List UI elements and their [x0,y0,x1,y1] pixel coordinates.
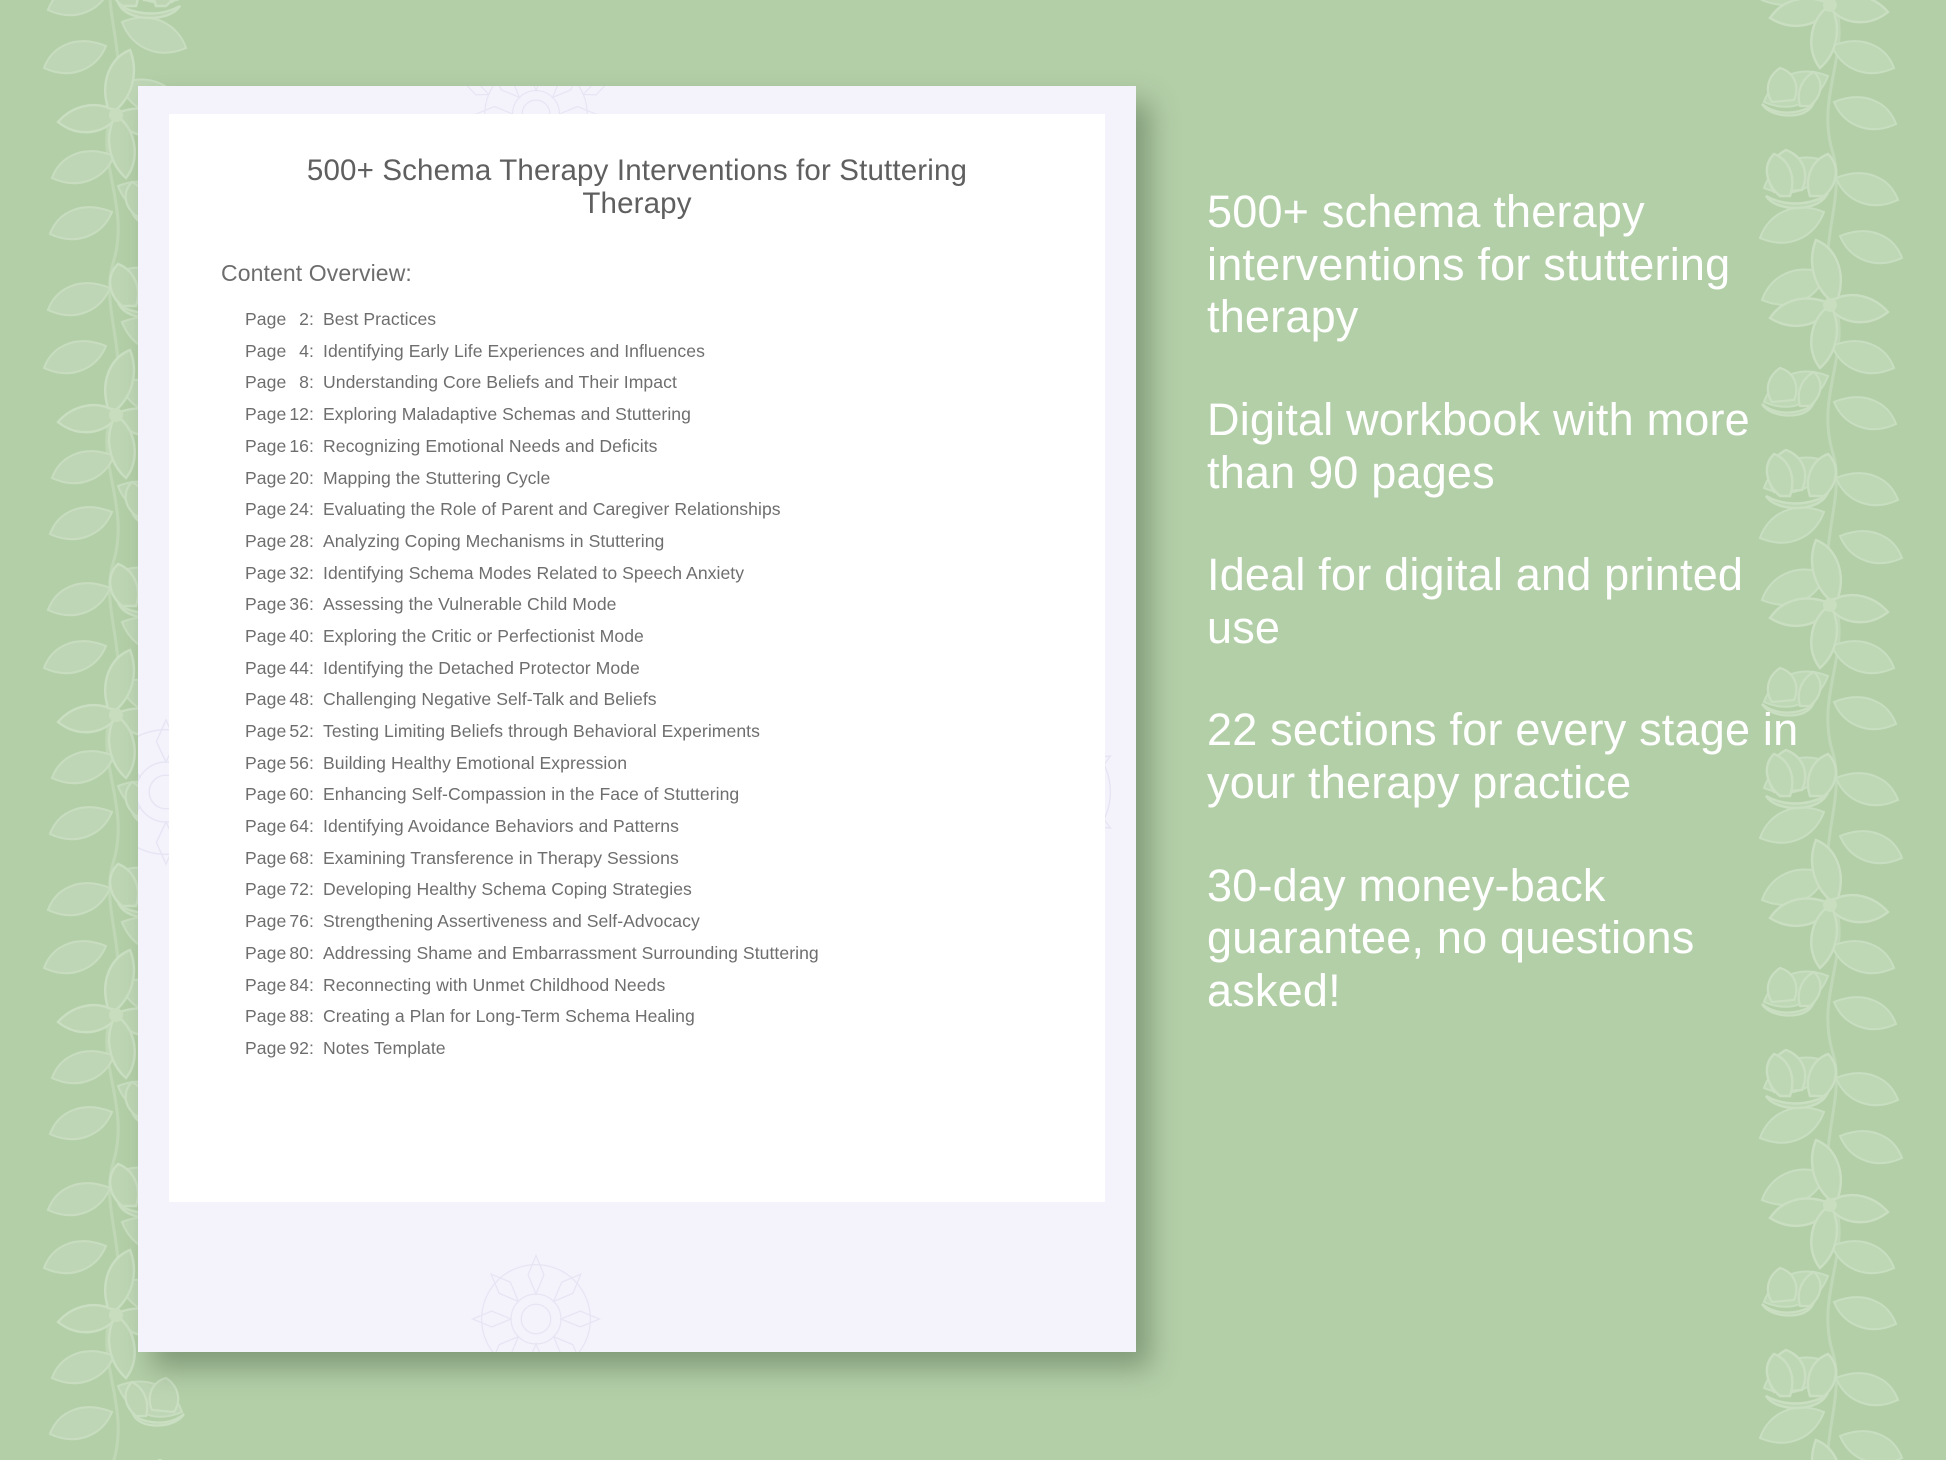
toc-colon: : [309,784,323,805]
toc-entry-title: Challenging Negative Self-Talk and Belie… [323,689,657,710]
toc-colon: : [309,721,323,742]
toc-colon: : [309,1006,323,1027]
toc-entry[interactable]: Page92:Notes Template [245,1038,1105,1070]
toc-colon: : [309,816,323,837]
toc-entry-title: Addressing Shame and Embarrassment Surro… [323,943,819,964]
toc-entry-title: Examining Transference in Therapy Sessio… [323,848,679,869]
toc-colon: : [309,531,323,552]
toc-entry-title: Exploring Maladaptive Schemas and Stutte… [323,404,691,425]
toc-colon: : [309,404,323,425]
toc-page-label: Page [245,975,283,996]
toc-page-number: 56 [283,753,309,774]
toc-entry-title: Understanding Core Beliefs and Their Imp… [323,372,677,393]
toc-page-number: 36 [283,594,309,615]
marketing-paragraph: 30-day money-back guarantee, no question… [1207,860,1817,1018]
marketing-paragraph: 500+ schema therapy interventions for st… [1207,186,1817,344]
mandala-watermark-bottom [386,1234,686,1352]
marketing-paragraph: Digital workbook with more than 90 pages [1207,394,1817,499]
toc-entry-title: Identifying Schema Modes Related to Spee… [323,563,744,584]
toc-page-label: Page [245,563,283,584]
toc-page-number: 12 [283,404,309,425]
toc-page-label: Page [245,626,283,647]
toc-page-number: 68 [283,848,309,869]
toc-entry[interactable]: Page56:Building Healthy Emotional Expres… [245,753,1105,785]
toc-page-number: 4 [283,341,309,362]
toc-entry[interactable]: Page8:Understanding Core Beliefs and The… [245,372,1105,404]
toc-entry-title: Assessing the Vulnerable Child Mode [323,594,617,615]
toc-entry[interactable]: Page4:Identifying Early Life Experiences… [245,341,1105,373]
toc-page-label: Page [245,468,283,489]
toc-entry-title: Mapping the Stuttering Cycle [323,468,550,489]
toc-entry-title: Building Healthy Emotional Expression [323,753,627,774]
toc-page-label: Page [245,784,283,805]
toc-entry-title: Enhancing Self-Compassion in the Face of… [323,784,739,805]
toc-colon: : [309,943,323,964]
toc-colon: : [309,594,323,615]
toc-page-number: 64 [283,816,309,837]
toc-entry-title: Creating a Plan for Long-Term Schema Hea… [323,1006,695,1027]
toc-colon: : [309,1038,323,1059]
toc-entry[interactable]: Page64:Identifying Avoidance Behaviors a… [245,816,1105,848]
toc-entry[interactable]: Page84:Reconnecting with Unmet Childhood… [245,975,1105,1007]
toc-page-number: 48 [283,689,309,710]
toc-page-number: 88 [283,1006,309,1027]
toc-entry[interactable]: Page60:Enhancing Self-Compassion in the … [245,784,1105,816]
marketing-paragraph: Ideal for digital and printed use [1207,549,1817,654]
marketing-bullet-column: 500+ schema therapy interventions for st… [1207,186,1817,1018]
toc-page-label: Page [245,372,283,393]
toc-page-number: 80 [283,943,309,964]
toc-page-label: Page [245,658,283,679]
toc-entry[interactable]: Page44:Identifying the Detached Protecto… [245,658,1105,690]
content-overview-label: Content Overview: [169,220,1105,287]
toc-colon: : [309,975,323,996]
toc-entry-title: Notes Template [323,1038,446,1059]
toc-entry-title: Identifying the Detached Protector Mode [323,658,640,679]
toc-page-number: 20 [283,468,309,489]
toc-entry[interactable]: Page52:Testing Limiting Beliefs through … [245,721,1105,753]
toc-colon: : [309,879,323,900]
toc-entry-title: Identifying Avoidance Behaviors and Patt… [323,816,679,837]
toc-entry[interactable]: Page80:Addressing Shame and Embarrassmen… [245,943,1105,975]
toc-entry[interactable]: Page12:Exploring Maladaptive Schemas and… [245,404,1105,436]
toc-entry[interactable]: Page20:Mapping the Stuttering Cycle [245,468,1105,500]
table-of-contents-list: Page2:Best PracticesPage4:Identifying Ea… [169,287,1105,1070]
toc-page-number: 84 [283,975,309,996]
toc-colon: : [309,309,323,330]
toc-page-label: Page [245,404,283,425]
toc-entry[interactable]: Page40:Exploring the Critic or Perfectio… [245,626,1105,658]
toc-colon: : [309,563,323,584]
toc-page-number: 24 [283,499,309,520]
toc-page-label: Page [245,309,283,330]
toc-page-label: Page [245,943,283,964]
toc-entry-title: Identifying Early Life Experiences and I… [323,341,705,362]
toc-page-number: 8 [283,372,309,393]
toc-entry[interactable]: Page68:Examining Transference in Therapy… [245,848,1105,880]
toc-page-number: 76 [283,911,309,932]
toc-page-label: Page [245,721,283,742]
toc-page-label: Page [245,1006,283,1027]
toc-page-number: 2 [283,309,309,330]
marketing-paragraph: 22 sections for every stage in your ther… [1207,704,1817,809]
toc-page-number: 44 [283,658,309,679]
toc-page-number: 40 [283,626,309,647]
toc-entry[interactable]: Page24:Evaluating the Role of Parent and… [245,499,1105,531]
toc-page-label: Page [245,436,283,457]
page-title: 500+ Schema Therapy Interventions for St… [169,114,1105,220]
toc-page-number: 60 [283,784,309,805]
toc-entry-title: Best Practices [323,309,436,330]
toc-page-label: Page [245,1038,283,1059]
toc-page-number: 16 [283,436,309,457]
toc-entry[interactable]: Page32:Identifying Schema Modes Related … [245,563,1105,595]
toc-entry-title: Exploring the Critic or Perfectionist Mo… [323,626,644,647]
toc-colon: : [309,468,323,489]
toc-entry-title: Reconnecting with Unmet Childhood Needs [323,975,665,996]
toc-page-label: Page [245,594,283,615]
toc-colon: : [309,658,323,679]
toc-page-label: Page [245,531,283,552]
toc-page-label: Page [245,499,283,520]
toc-page-label: Page [245,911,283,932]
toc-page-number: 92 [283,1038,309,1059]
toc-entry-title: Evaluating the Role of Parent and Caregi… [323,499,781,520]
toc-entry[interactable]: Page72:Developing Healthy Schema Coping … [245,879,1105,911]
toc-entry-title: Developing Healthy Schema Coping Strateg… [323,879,692,900]
document-preview-card[interactable]: 500+ Schema Therapy Interventions for St… [138,86,1136,1352]
toc-page-number: 32 [283,563,309,584]
toc-entry-title: Analyzing Coping Mechanisms in Stutterin… [323,531,664,552]
toc-page-label: Page [245,879,283,900]
product-listing-graphic: 500+ Schema Therapy Interventions for St… [0,0,1946,1460]
toc-colon: : [309,753,323,774]
toc-colon: : [309,436,323,457]
toc-entry[interactable]: Page48:Challenging Negative Self-Talk an… [245,689,1105,721]
toc-entry-title: Testing Limiting Beliefs through Behavio… [323,721,760,742]
toc-page-label: Page [245,753,283,774]
toc-entry-title: Strengthening Assertiveness and Self-Adv… [323,911,700,932]
toc-page-number: 28 [283,531,309,552]
toc-page-label: Page [245,689,283,710]
toc-page-label: Page [245,341,283,362]
toc-colon: : [309,911,323,932]
toc-entry[interactable]: Page16:Recognizing Emotional Needs and D… [245,436,1105,468]
toc-entry[interactable]: Page36:Assessing the Vulnerable Child Mo… [245,594,1105,626]
toc-page-number: 72 [283,879,309,900]
toc-colon: : [309,626,323,647]
toc-page-label: Page [245,816,283,837]
toc-colon: : [309,689,323,710]
toc-colon: : [309,848,323,869]
toc-colon: : [309,499,323,520]
document-page: 500+ Schema Therapy Interventions for St… [169,114,1105,1202]
toc-page-label: Page [245,848,283,869]
toc-colon: : [309,372,323,393]
toc-entry[interactable]: Page2:Best Practices [245,309,1105,341]
toc-page-number: 52 [283,721,309,742]
toc-entry[interactable]: Page88:Creating a Plan for Long-Term Sch… [245,1006,1105,1038]
toc-entry[interactable]: Page76:Strengthening Assertiveness and S… [245,911,1105,943]
toc-colon: : [309,341,323,362]
toc-entry-title: Recognizing Emotional Needs and Deficits [323,436,658,457]
toc-entry[interactable]: Page28:Analyzing Coping Mechanisms in St… [245,531,1105,563]
